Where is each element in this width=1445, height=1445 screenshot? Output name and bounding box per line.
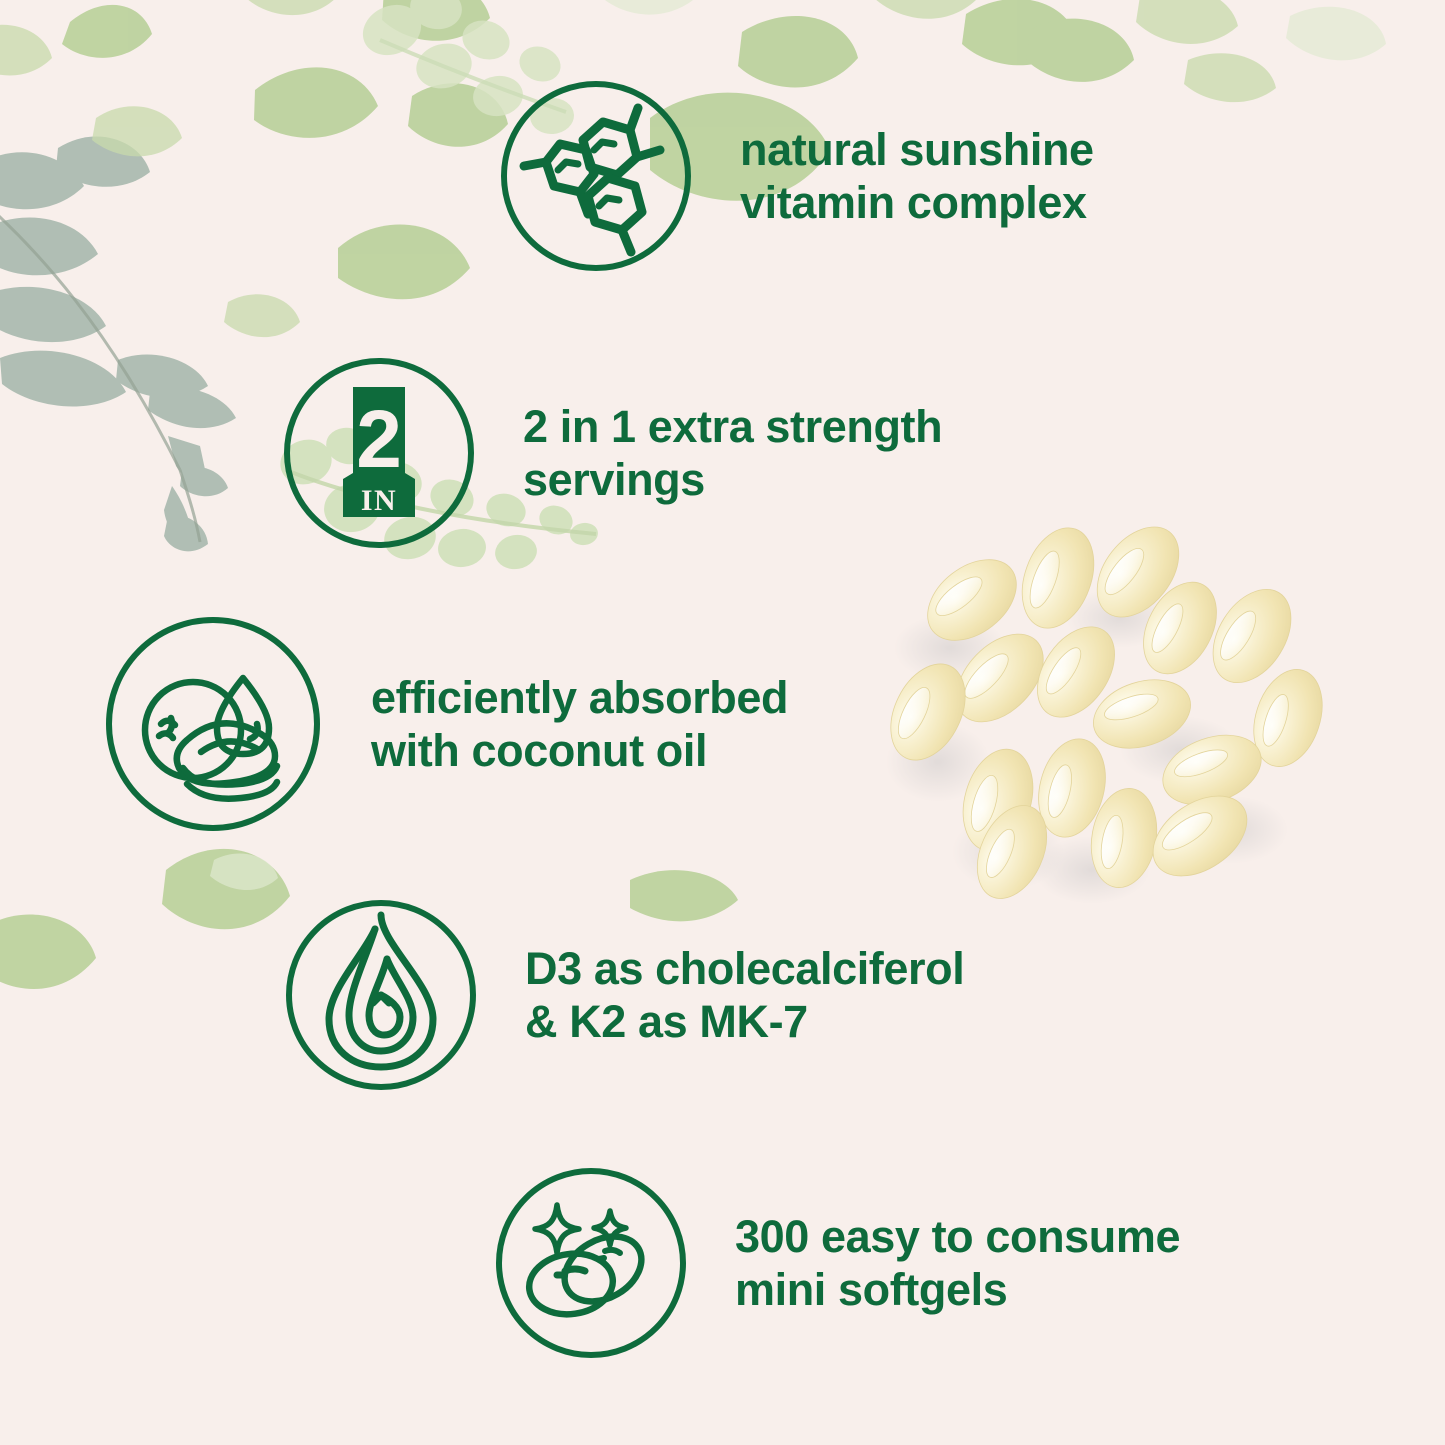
sparkling-softgels-icon	[493, 1165, 689, 1361]
feature-row-coconut-oil: efficiently absorbed with coconut oil	[101, 612, 788, 836]
feature-row-natural-sunshine: natural sunshine vitamin complex	[498, 78, 1094, 274]
feature-text: D3 as cholecalciferol & K2 as MK-7	[525, 942, 964, 1048]
feature-text: 300 easy to consume mini softgels	[735, 1210, 1180, 1316]
softgel-capsules-image	[880, 500, 1350, 950]
feature-row-two-in-one: 2 IN 2 in 1 extra strength servings	[281, 355, 942, 551]
spiral-droplet-icon	[283, 897, 479, 1093]
badge-number: 2	[356, 394, 402, 485]
feature-row-d3-k2: D3 as cholecalciferol & K2 as MK-7	[283, 897, 964, 1093]
feature-row-mini-softgels: 300 easy to consume mini softgels	[493, 1165, 1180, 1361]
sparkle-large-icon	[535, 1205, 579, 1253]
badge-word: IN	[361, 484, 397, 517]
feature-text: natural sunshine vitamin complex	[740, 123, 1094, 229]
molecule-hexagons-icon	[498, 78, 694, 274]
two-in-one-badge-icon: 2 IN	[281, 355, 477, 551]
infographic-canvas: natural sunshine vitamin complex 2 IN 2 …	[0, 0, 1445, 1445]
feature-text: efficiently absorbed with coconut oil	[371, 671, 788, 777]
coconut-oil-droplet-icon	[101, 612, 325, 836]
feature-text: 2 in 1 extra strength servings	[523, 400, 942, 506]
